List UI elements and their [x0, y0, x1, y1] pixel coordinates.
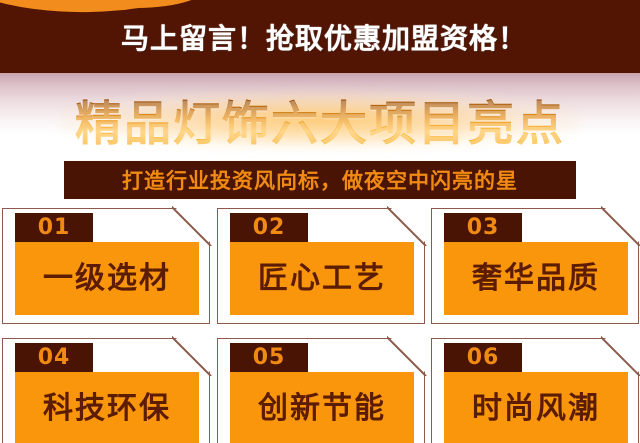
promo-banner-page: 马上留言！抢取优惠加盟资格！ 精品灯饰六大项目亮点 打造行业投资风向标，做夜空中…: [0, 0, 640, 443]
card-number-tab: 03: [444, 213, 522, 243]
card-label-block: 时尚风潮: [444, 372, 628, 443]
card-label: 匠心工艺: [258, 264, 386, 294]
card-content: 06 时尚风潮: [436, 343, 634, 443]
card-number: 06: [467, 347, 500, 369]
card-number: 01: [38, 217, 71, 239]
highlight-card[interactable]: 06 时尚风潮: [431, 338, 639, 443]
subtitle-text: 打造行业投资风向标，做夜空中闪亮的星: [122, 165, 518, 195]
highlight-card[interactable]: 01 一级选材: [2, 208, 210, 324]
highlight-card[interactable]: 02 匠心工艺: [217, 208, 425, 324]
card-number-tab: 04: [15, 343, 93, 373]
card-number-tab: 02: [230, 213, 308, 243]
card-label-block: 匠心工艺: [230, 242, 414, 315]
card-number: 05: [253, 347, 286, 369]
highlight-card[interactable]: 04 科技环保: [2, 338, 210, 443]
main-title-area: 精品灯饰六大项目亮点: [0, 82, 640, 157]
top-call-to-action-banner: 马上留言！抢取优惠加盟资格！: [0, 0, 640, 73]
card-content: 02 匠心工艺: [222, 213, 420, 319]
card-number: 03: [467, 217, 500, 239]
card-label-block: 一级选材: [15, 242, 199, 315]
card-content: 03 奢华品质: [436, 213, 634, 319]
page-title: 精品灯饰六大项目亮点: [75, 85, 565, 154]
card-content: 05 创新节能: [222, 343, 420, 443]
card-label: 创新节能: [258, 394, 386, 424]
card-number-tab: 06: [444, 343, 522, 373]
card-label-block: 创新节能: [230, 372, 414, 443]
subtitle-bar: 打造行业投资风向标，做夜空中闪亮的星: [64, 161, 576, 199]
card-number-tab: 01: [15, 213, 93, 243]
card-label: 奢华品质: [472, 264, 600, 294]
highlight-card-grid: 01 一级选材 02 匠心工艺: [0, 208, 640, 443]
card-label: 时尚风潮: [472, 394, 600, 424]
card-label-block: 奢华品质: [444, 242, 628, 315]
card-number: 04: [38, 347, 71, 369]
card-number: 02: [253, 217, 286, 239]
card-number-tab: 05: [230, 343, 308, 373]
highlight-card[interactable]: 05 创新节能: [217, 338, 425, 443]
card-content: 04 科技环保: [7, 343, 205, 443]
card-content: 01 一级选材: [7, 213, 205, 319]
card-label: 科技环保: [43, 394, 171, 424]
card-label: 一级选材: [43, 264, 171, 294]
highlight-card[interactable]: 03 奢华品质: [431, 208, 639, 324]
cta-headline: 马上留言！抢取优惠加盟资格！: [0, 0, 640, 73]
card-label-block: 科技环保: [15, 372, 199, 443]
